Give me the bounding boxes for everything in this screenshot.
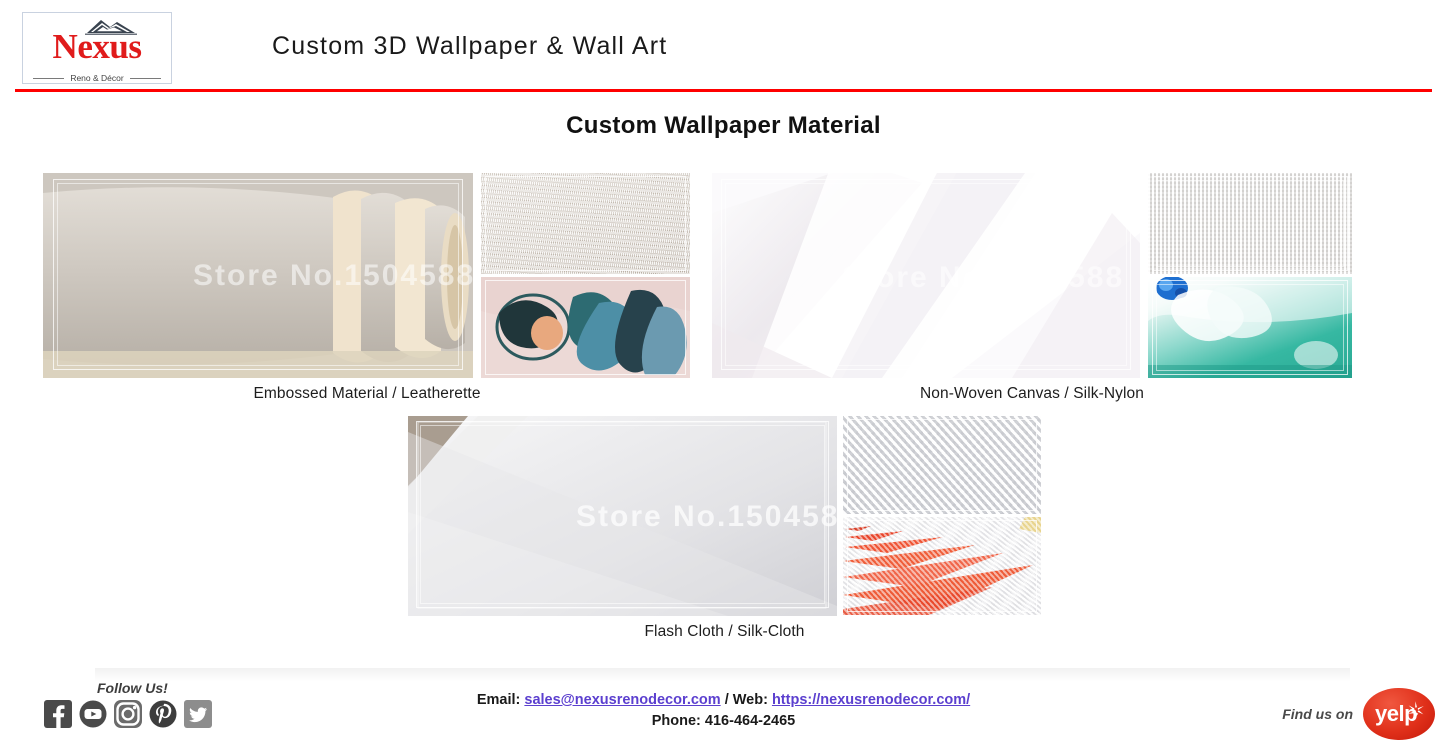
silk-drape-illustration <box>712 173 1140 378</box>
embossed-thumb-print[interactable] <box>481 277 690 378</box>
flashcloth-main-image[interactable]: Store No.1504588 <box>408 416 837 616</box>
panel-media-flashcloth: Store No.1504588 <box>408 416 1041 616</box>
logo-rule-left <box>33 78 64 79</box>
embossed-main-image[interactable]: Store No.1504588 <box>43 173 473 378</box>
mountain-roof-icon <box>83 16 139 36</box>
nonwoven-thumbnails <box>1148 173 1352 378</box>
brand-logo[interactable]: Nexus Reno & Décor <box>22 12 172 84</box>
yelp-burst-icon <box>1406 700 1426 720</box>
embossed-thumb-texture[interactable] <box>481 173 690 274</box>
caption-flashcloth: Flash Cloth / Silk-Cloth <box>408 623 1041 641</box>
phone-label: Phone: <box>652 713 701 729</box>
contact-separator: / Web: <box>725 692 768 708</box>
material-panel-flashcloth[interactable]: Store No.1504588 <box>408 416 1041 641</box>
page-title: Custom Wallpaper Material <box>0 112 1447 140</box>
nonwoven-thumb-weave[interactable] <box>1148 173 1352 274</box>
embossed-thumbnails <box>481 173 690 378</box>
logo-tagline-row: Reno & Décor <box>33 73 161 83</box>
nonwoven-thumb-floral[interactable] <box>1148 277 1352 378</box>
phone-number: 416-464-2465 <box>705 713 795 729</box>
yelp-label: Find us on <box>1282 706 1353 722</box>
yelp-block[interactable]: Find us on yelp <box>1282 688 1435 740</box>
website-link[interactable]: https://nexusrenodecor.com/ <box>772 692 970 708</box>
contact-line: Email: sales@nexusrenodecor.com / Web: h… <box>0 690 1447 732</box>
email-label: Email: <box>477 692 521 708</box>
caption-embossed: Embossed Material / Leatherette <box>43 385 691 403</box>
page-header: Nexus Reno & Décor Custom 3D Wallpaper &… <box>0 0 1447 92</box>
material-panel-nonwoven[interactable]: Store No.1504588 <box>712 173 1352 403</box>
footer-shadow <box>95 668 1350 682</box>
contact-row-1: Email: sales@nexusrenodecor.com / Web: h… <box>0 690 1447 711</box>
red-stripe-weave-overlay <box>843 517 1041 615</box>
panel-media-nonwoven: Store No.1504588 <box>712 173 1352 378</box>
flashcloth-sheet-illustration <box>408 416 837 616</box>
header-divider <box>15 89 1432 92</box>
nonwoven-main-image[interactable]: Store No.1504588 <box>712 173 1140 378</box>
header-title: Custom 3D Wallpaper & Wall Art <box>272 32 667 61</box>
embossed-print-illustration <box>481 277 690 378</box>
logo-tagline: Reno & Décor <box>70 73 123 83</box>
embossed-roll-illustration <box>43 173 473 378</box>
email-link[interactable]: sales@nexusrenodecor.com <box>524 692 720 708</box>
flashcloth-thumb-weave[interactable] <box>843 416 1041 514</box>
logo-rule-right <box>130 78 161 79</box>
panel-gap <box>473 173 481 378</box>
panel-media-embossed: Store No.1504588 <box>43 173 691 378</box>
contact-row-2: Phone: 416-464-2465 <box>0 711 1447 732</box>
slide-root: Nexus Reno & Décor Custom 3D Wallpaper &… <box>0 0 1447 756</box>
panel-gap-2 <box>1140 173 1148 378</box>
embossed-thumb-texture-frame <box>485 176 686 271</box>
caption-nonwoven: Non-Woven Canvas / Silk-Nylon <box>712 385 1352 403</box>
yelp-badge[interactable]: yelp <box>1363 688 1435 740</box>
teal-floral-illustration <box>1148 277 1352 378</box>
material-panel-embossed[interactable]: Store No.1504588 <box>43 173 691 403</box>
flashcloth-thumb-redstripe[interactable] <box>843 517 1041 615</box>
flashcloth-thumbnails <box>843 416 1041 616</box>
flashcloth-thumb-weave-frame <box>847 419 1037 511</box>
nonwoven-thumb-weave-frame <box>1152 176 1348 271</box>
